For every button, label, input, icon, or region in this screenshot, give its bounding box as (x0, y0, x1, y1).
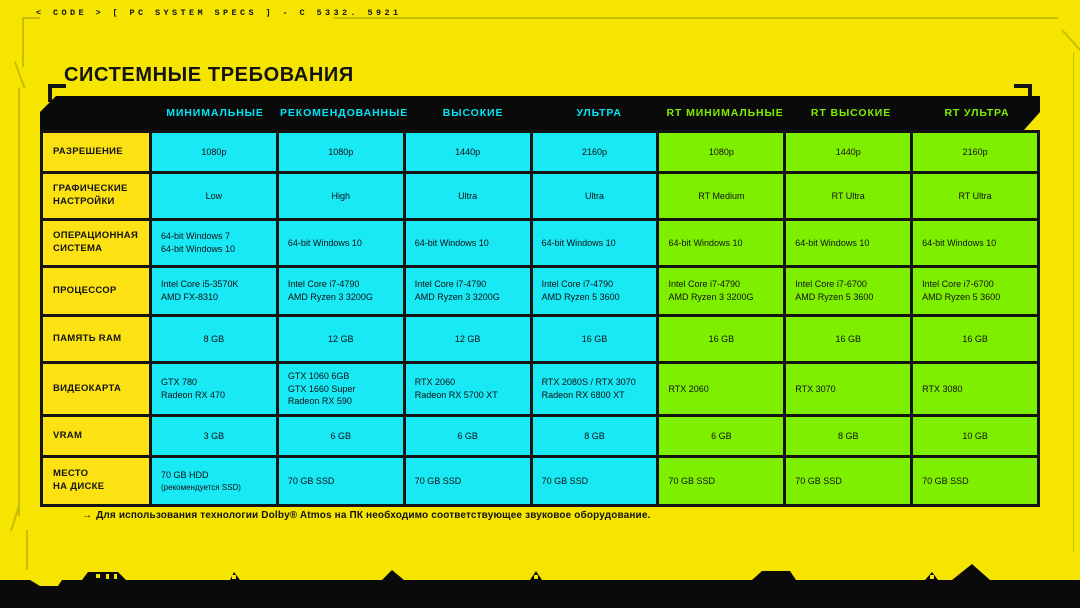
cell-line: AMD Ryzen 5 3600 (795, 291, 873, 304)
cell-line: 70 GB SSD (922, 475, 969, 488)
cell-line: 6 GB (711, 430, 732, 443)
table-row: ПРОЦЕССОРIntel Core i5-3570KAMD FX-8310I… (40, 268, 1040, 317)
cell-line: RT Ultra (832, 190, 865, 203)
frame-line-top-right (333, 17, 1058, 19)
table-cell[interactable]: Ultra (406, 174, 533, 218)
cell-line: Radeon RX 6800 XT (542, 389, 625, 402)
frame-line-left-diagonal-lower (10, 506, 19, 531)
cell-line: Intel Core i7-6700 (922, 278, 994, 291)
table-cell[interactable]: RTX 2060 (659, 364, 786, 414)
cell-line: 2160p (582, 146, 607, 159)
code-strip: < CODE > [ PC SYSTEM SPECS ] - C 5332. 5… (36, 8, 402, 18)
cell-line: RTX 2080S / RTX 3070 (542, 376, 636, 389)
cell-line: Ultra (458, 190, 477, 203)
table-cell[interactable]: Intel Core i7-6700AMD Ryzen 5 3600 (913, 268, 1040, 314)
table-column-header-4[interactable]: RT МИНИМАЛЬНЫЕ (662, 96, 788, 130)
cell-line: GTX 780 (161, 376, 197, 389)
cell-line: 12 GB (455, 333, 481, 346)
row-label-4: ПАМЯТЬ RAM (40, 317, 152, 361)
table-row: РАЗРЕШЕНИЕ1080p1080p1440p2160p1080p1440p… (40, 130, 1040, 174)
table-cell[interactable]: GTX 780Radeon RX 470 (152, 364, 279, 414)
cell-line: Intel Core i7-4790 (415, 278, 487, 291)
cell-line: 64-bit Windows 10 (288, 237, 362, 250)
table-row: ПАМЯТЬ RAM8 GB12 GB12 GB16 GB16 GB16 GB1… (40, 317, 1040, 364)
footnote: →Для использования технологии Dolby® Atm… (82, 510, 651, 521)
table-cell[interactable]: High (279, 174, 406, 218)
cell-line: (рекомендуется SSD) (161, 482, 241, 493)
table-cell[interactable]: 8 GB (786, 417, 913, 455)
table-cell[interactable]: 6 GB (406, 417, 533, 455)
table-cell[interactable]: Intel Core i7-6700AMD Ryzen 5 3600 (786, 268, 913, 314)
row-label-2: ОПЕРАЦИОННАЯСИСТЕМА (40, 221, 152, 265)
cell-line: RT Ultra (958, 190, 991, 203)
row-label-line: ОПЕРАЦИОННАЯ (53, 230, 138, 241)
table-row: ГРАФИЧЕСКИЕНАСТРОЙКИLowHighUltraUltraRT … (40, 174, 1040, 221)
table-cell[interactable]: 2160p (533, 133, 660, 171)
cell-line: AMD Ryzen 5 3600 (542, 291, 620, 304)
cell-line: RTX 3080 (922, 383, 962, 396)
cell-line: 1440p (455, 146, 480, 159)
table-cell[interactable]: RT Medium (659, 174, 786, 218)
table-column-header-0[interactable]: МИНИМАЛЬНЫЕ (152, 96, 278, 130)
table-cell[interactable]: 10 GB (913, 417, 1040, 455)
cell-line: 1080p (328, 146, 353, 159)
cell-line: 64-bit Windows 10 (795, 237, 869, 250)
cell-line: 64-bit Windows 10 (922, 237, 996, 250)
cell-line: Intel Core i7-6700 (795, 278, 867, 291)
cell-line: AMD Ryzen 3 3200G (415, 291, 500, 304)
cell-line: 6 GB (331, 430, 352, 443)
table-cell[interactable]: Low (152, 174, 279, 218)
table-cell[interactable]: 12 GB (279, 317, 406, 361)
table-header-band: МИНИМАЛЬНЫЕРЕКОМЕНДОВАННЫЕВЫСОКИЕУЛЬТРАR… (40, 96, 1040, 130)
cell-line: Intel Core i7-4790 (542, 278, 614, 291)
cell-line: AMD Ryzen 3 3200G (668, 291, 753, 304)
cell-line: Radeon RX 470 (161, 389, 225, 402)
table-column-header-5[interactable]: RT ВЫСОКИЕ (788, 96, 914, 130)
table-column-header-3[interactable]: УЛЬТРА (536, 96, 662, 130)
table-cell[interactable]: 70 GB SSD (913, 458, 1040, 504)
row-label-line: МЕСТО (53, 468, 88, 479)
cell-line: 16 GB (962, 333, 988, 346)
cell-line: RTX 3070 (795, 383, 835, 396)
cell-line: 3 GB (204, 430, 225, 443)
cell-line: Intel Core i7-4790 (288, 278, 360, 291)
footnote-text: Для использования технологии Dolby® Atmo… (96, 510, 650, 521)
row-label-line: ГРАФИЧЕСКИЕ (53, 183, 128, 194)
cell-line: Ultra (585, 190, 604, 203)
cell-line: 70 GB SSD (795, 475, 842, 488)
cell-line: GTX 1060 6GB (288, 370, 350, 383)
cell-line: Low (206, 190, 223, 203)
table-cell[interactable]: 6 GB (279, 417, 406, 455)
row-label-line: НА ДИСКЕ (53, 481, 104, 492)
row-label-3: ПРОЦЕССОР (40, 268, 152, 314)
table-cell[interactable]: 64-bit Windows 10 (913, 221, 1040, 265)
table-cell[interactable]: RTX 2080S / RTX 3070Radeon RX 6800 XT (533, 364, 660, 414)
cell-line: 8 GB (584, 430, 605, 443)
table-cell[interactable]: 64-bit Windows 10 (533, 221, 660, 265)
row-label-line: СИСТЕМА (53, 243, 102, 254)
table-cell[interactable]: 1080p (279, 133, 406, 171)
table-cell[interactable]: 70 GB HDD(рекомендуется SSD) (152, 458, 279, 504)
row-label-line: НАСТРОЙКИ (53, 196, 115, 207)
cell-line: 10 GB (962, 430, 988, 443)
table-row: ОПЕРАЦИОННАЯСИСТЕМА64-bit Windows 764-bi… (40, 221, 1040, 268)
table-cell[interactable]: 64-bit Windows 10 (786, 221, 913, 265)
cell-line: 1440p (836, 146, 861, 159)
table-cell[interactable]: 70 GB SSD (406, 458, 533, 504)
cell-line: 64-bit Windows 7 (161, 230, 230, 243)
system-requirements-table: МИНИМАЛЬНЫЕРЕКОМЕНДОВАННЫЕВЫСОКИЕУЛЬТРАR… (40, 96, 1040, 507)
cell-line: 70 GB HDD (161, 469, 209, 482)
cell-line: GTX 1660 Super (288, 383, 356, 396)
cell-line: Intel Core i5-3570K (161, 278, 239, 291)
table-cell[interactable]: Intel Core i7-4790AMD Ryzen 3 3200G (406, 268, 533, 314)
table-column-header-6[interactable]: RT УЛЬТРА (914, 96, 1040, 130)
table-cell[interactable]: Intel Core i5-3570KAMD FX-8310 (152, 268, 279, 314)
cell-line: 64-bit Windows 10 (415, 237, 489, 250)
cell-line: 1080p (201, 146, 226, 159)
table-cell[interactable]: 2160p (913, 133, 1040, 171)
table-cell[interactable]: 64-bit Windows 10 (279, 221, 406, 265)
cell-line: Radeon RX 5700 XT (415, 389, 498, 402)
row-label-1: ГРАФИЧЕСКИЕНАСТРОЙКИ (40, 174, 152, 218)
cell-line: RTX 2060 (415, 376, 455, 389)
table-row: МЕСТОНА ДИСКЕ70 GB HDD(рекомендуется SSD… (40, 458, 1040, 507)
table-cell[interactable]: 12 GB (406, 317, 533, 361)
table-cell[interactable]: RTX 2060Radeon RX 5700 XT (406, 364, 533, 414)
table-cell[interactable]: 6 GB (659, 417, 786, 455)
table-cell[interactable]: RT Ultra (786, 174, 913, 218)
table-cell[interactable]: 8 GB (152, 317, 279, 361)
table-cell[interactable]: Intel Core i7-4790AMD Ryzen 3 3200G (659, 268, 786, 314)
table-cell[interactable]: 70 GB SSD (279, 458, 406, 504)
table-cell[interactable]: 70 GB SSD (786, 458, 913, 504)
table-cell[interactable]: 3 GB (152, 417, 279, 455)
table-column-header-1[interactable]: РЕКОМЕНДОВАННЫЕ (278, 96, 410, 130)
table-cell[interactable]: RT Ultra (913, 174, 1040, 218)
table-row: ВИДЕОКАРТАGTX 780Radeon RX 470GTX 1060 6… (40, 364, 1040, 417)
table-cell[interactable]: 64-bit Windows 10 (659, 221, 786, 265)
cell-line: 64-bit Windows 10 (542, 237, 616, 250)
frame-line-left-upper (22, 17, 24, 67)
cell-line: 64-bit Windows 10 (668, 237, 742, 250)
table-body: РАЗРЕШЕНИЕ1080p1080p1440p2160p1080p1440p… (40, 130, 1040, 507)
frame-line-right (1073, 52, 1075, 552)
table-cell[interactable]: 16 GB (786, 317, 913, 361)
cell-line: Radeon RX 590 (288, 395, 352, 408)
cell-line: 8 GB (838, 430, 859, 443)
frame-line-left-main (18, 88, 20, 516)
cell-line: 16 GB (709, 333, 735, 346)
table-column-header-2[interactable]: ВЫСОКИЕ (410, 96, 536, 130)
skyline-decoration (0, 558, 1080, 608)
table-cell[interactable]: 16 GB (533, 317, 660, 361)
row-label-6: VRAM (40, 417, 152, 455)
table-header-corner (40, 96, 152, 130)
cell-line: 16 GB (835, 333, 861, 346)
cell-line: 8 GB (204, 333, 225, 346)
cell-line: 70 GB SSD (668, 475, 715, 488)
frame-line-top-right-diagonal (1061, 29, 1080, 52)
table-cell[interactable]: Intel Core i7-4790AMD Ryzen 5 3600 (533, 268, 660, 314)
table-cell[interactable]: 1440p (786, 133, 913, 171)
cell-line: 70 GB SSD (288, 475, 335, 488)
cell-line: 70 GB SSD (542, 475, 589, 488)
cell-line: 70 GB SSD (415, 475, 462, 488)
table-cell[interactable]: 70 GB SSD (659, 458, 786, 504)
cell-line: AMD Ryzen 5 3600 (922, 291, 1000, 304)
table-cell[interactable]: 70 GB SSD (533, 458, 660, 504)
arrow-icon: → (82, 510, 92, 521)
cell-line: 1080p (709, 146, 734, 159)
cell-line: High (332, 190, 351, 203)
cell-line: RTX 2060 (668, 383, 708, 396)
cell-line: Intel Core i7-4790 (668, 278, 740, 291)
cell-line: 2160p (963, 146, 988, 159)
table-cell[interactable]: 64-bit Windows 764-bit Windows 10 (152, 221, 279, 265)
table-cell[interactable]: 8 GB (533, 417, 660, 455)
table-cell[interactable]: Ultra (533, 174, 660, 218)
cell-line: 6 GB (457, 430, 478, 443)
table-cell[interactable]: 16 GB (659, 317, 786, 361)
row-label-0: РАЗРЕШЕНИЕ (40, 133, 152, 171)
cell-line: 64-bit Windows 10 (161, 243, 235, 256)
table-row: VRAM3 GB6 GB6 GB8 GB6 GB8 GB10 GB (40, 417, 1040, 458)
table-cell[interactable]: Intel Core i7-4790AMD Ryzen 3 3200G (279, 268, 406, 314)
table-cell[interactable]: 1080p (659, 133, 786, 171)
cell-line: 12 GB (328, 333, 354, 346)
cell-line: AMD FX-8310 (161, 291, 218, 304)
page-title: СИСТЕМНЫЕ ТРЕБОВАНИЯ (64, 64, 354, 87)
cell-line: RT Medium (698, 190, 744, 203)
table-cell[interactable]: GTX 1060 6GBGTX 1660 SuperRadeon RX 590 (279, 364, 406, 414)
table-cell[interactable]: 16 GB (913, 317, 1040, 361)
row-label-5: ВИДЕОКАРТА (40, 364, 152, 414)
table-cell[interactable]: RTX 3080 (913, 364, 1040, 414)
cell-line: 16 GB (582, 333, 608, 346)
table-cell[interactable]: 1440p (406, 133, 533, 171)
table-cell[interactable]: RTX 3070 (786, 364, 913, 414)
table-cell[interactable]: 64-bit Windows 10 (406, 221, 533, 265)
table-cell[interactable]: 1080p (152, 133, 279, 171)
cell-line: AMD Ryzen 3 3200G (288, 291, 373, 304)
row-label-7: МЕСТОНА ДИСКЕ (40, 458, 152, 504)
